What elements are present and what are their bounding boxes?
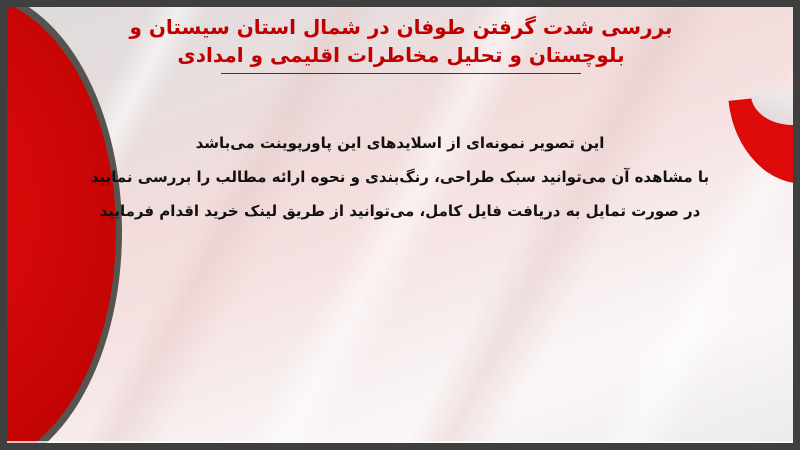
title-line-2: بلوچستان و تحلیل مخاطرات اقلیمی و امدادی (37, 41, 765, 69)
body-line-2: با مشاهده آن می‌توانید سبک طراحی، رنگ‌بن… (47, 161, 753, 195)
title-underline-rule (221, 73, 581, 74)
slide-content-plate: بررسی شدت گرفتن طوفان در شمال استان سیست… (7, 7, 793, 443)
slide-title: بررسی شدت گرفتن طوفان در شمال استان سیست… (37, 13, 765, 74)
body-line-1: این تصویر نمونه‌ای از اسلایدهای این پاور… (47, 127, 753, 161)
body-line-3: در صورت تمایل به دریافت فایل کامل، می‌تو… (47, 195, 753, 229)
slide-body-text: این تصویر نمونه‌ای از اسلایدهای این پاور… (47, 127, 753, 228)
presentation-slide: بررسی شدت گرفتن طوفان در شمال استان سیست… (0, 0, 800, 450)
title-line-1: بررسی شدت گرفتن طوفان در شمال استان سیست… (37, 13, 765, 41)
